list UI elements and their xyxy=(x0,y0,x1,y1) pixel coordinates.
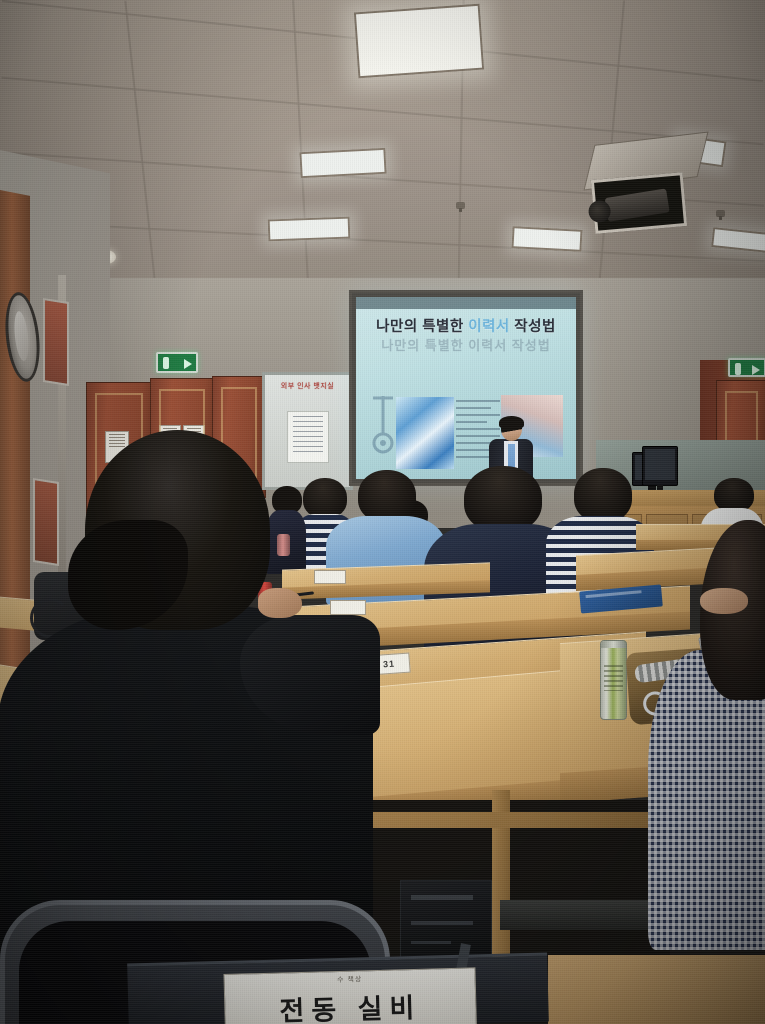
head xyxy=(464,466,542,532)
sprinkler-icon xyxy=(456,202,465,209)
slide-title: 나만의 특별한 이력서 작성법 xyxy=(356,315,576,336)
floor-right-desk xyxy=(548,955,765,1024)
slide-title-highlight: 이력서 xyxy=(468,319,510,335)
slide-image-left xyxy=(396,397,454,469)
ceiling-light-panel xyxy=(354,4,484,79)
ceiling-light-panel xyxy=(511,226,582,252)
wall-frame xyxy=(43,298,69,386)
whiteboard-heading: 외부 인사 뱃지실 xyxy=(269,381,346,391)
exit-arrow-icon xyxy=(184,359,192,369)
head xyxy=(574,468,632,522)
head xyxy=(714,478,754,512)
exit-figure-icon xyxy=(735,363,741,375)
placard-holder: 수 책상 전동 실비 xyxy=(127,953,549,1024)
projector-recess xyxy=(591,172,687,234)
attendee-hand xyxy=(700,588,748,614)
exit-sign-icon xyxy=(156,352,198,373)
presenter-hair xyxy=(499,416,524,429)
ceiling-light-panel xyxy=(299,148,386,178)
placard-paper: 수 책상 전동 실비 xyxy=(223,967,476,1024)
exit-arrow-icon xyxy=(752,365,760,375)
slide-title-part1: 나만의 특별한 xyxy=(376,319,468,335)
slide-title-reflection: 나만의 특별한 이력서 작성법 xyxy=(356,335,576,354)
slide-title-part2: 작성법 xyxy=(510,319,556,335)
lecture-hall-photo: 외부 인사 뱃지실 나만의 특별한 이력서 작성법 나만의 특별한 이력서 작성… xyxy=(0,0,765,1024)
screen-top-bar xyxy=(356,297,576,309)
ceiling-projector xyxy=(585,168,690,230)
foreground-hand xyxy=(258,588,302,618)
placard-main-text: 전동 실비 xyxy=(225,984,476,1024)
sprinkler-icon xyxy=(716,210,725,217)
exit-sign-icon xyxy=(728,358,765,377)
ceiling-light-panel xyxy=(268,217,351,242)
beverage-can[interactable] xyxy=(600,640,627,720)
projector-body xyxy=(605,188,670,221)
exit-figure-icon xyxy=(163,357,169,369)
